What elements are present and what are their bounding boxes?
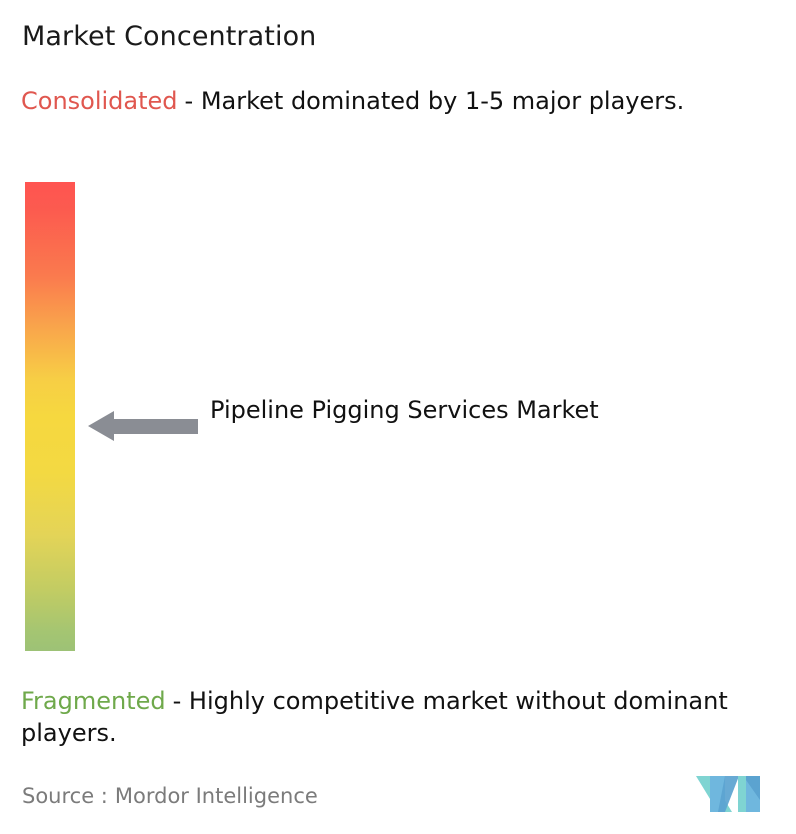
fragmented-description: Fragmented- Highly competitive market wi…: [21, 685, 789, 749]
consolidated-description-text: - Market dominated by 1-5 major players.: [185, 87, 685, 115]
consolidated-description: Consolidated- Market dominated by 1-5 ma…: [21, 85, 773, 117]
source-label: Source :: [22, 784, 108, 808]
source-line: Source :Mordor Intelligence: [22, 782, 318, 810]
source-name: Mordor Intelligence: [115, 784, 318, 808]
mordor-intelligence-logo: [694, 772, 768, 814]
page-title: Market Concentration: [22, 20, 316, 54]
consolidated-keyword: Consolidated: [21, 87, 178, 115]
mi-logo-icon: [694, 772, 768, 814]
concentration-gradient-bar: [25, 182, 75, 651]
fragmented-keyword: Fragmented: [21, 687, 166, 715]
market-position-arrow: [88, 409, 198, 443]
market-callout-label: Pipeline Pigging Services Market: [210, 393, 640, 428]
left-arrow-icon: [88, 409, 198, 443]
market-concentration-infographic: Market Concentration Consolidated- Marke…: [0, 0, 796, 834]
